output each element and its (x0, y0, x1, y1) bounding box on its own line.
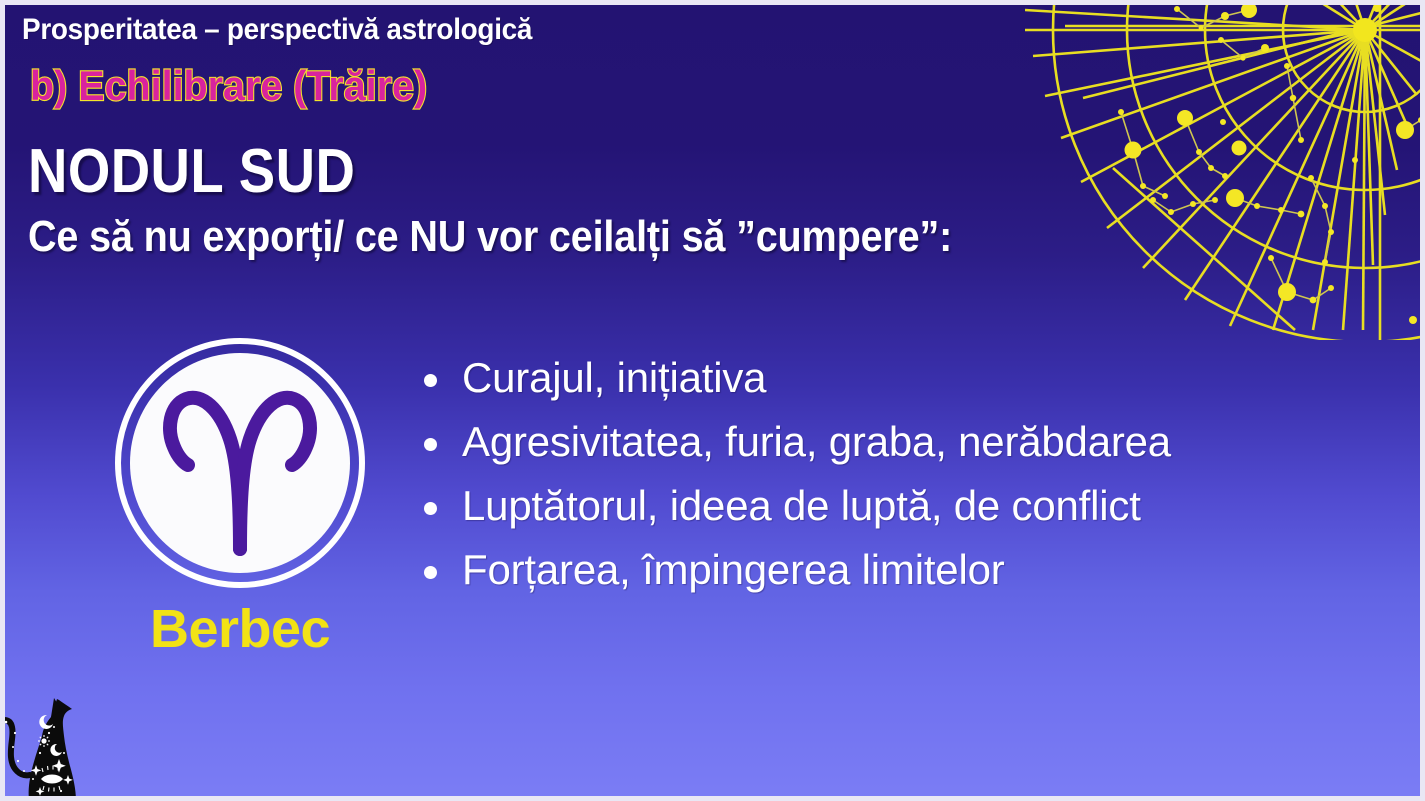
bullet-dot-icon (424, 438, 437, 451)
slide-subtitle: b) Echilibrare (Trăire) (30, 62, 427, 110)
aries-symbol-icon (130, 353, 350, 573)
frame-border-bottom (0, 796, 1425, 801)
slide-lead-text: Ce să nu exporți/ ce NU vor ceilalți să … (28, 212, 952, 262)
celestial-cat-silhouette-icon (2, 689, 110, 801)
bullet-dot-icon (424, 374, 437, 387)
list-item-label: Curajul, inițiativa (462, 354, 766, 401)
list-item-label: Luptătorul, ideea de luptă, de conflict (462, 482, 1141, 529)
star-chart-graphic (1025, 0, 1425, 340)
frame-border-top (0, 0, 1425, 5)
bullet-dot-icon (424, 566, 437, 579)
list-item: Agresivitatea, furia, graba, nerăbdarea (412, 412, 1392, 472)
list-item: Forțarea, împingerea limitelor (412, 540, 1392, 600)
bullet-dot-icon (424, 502, 437, 515)
list-item-label: Forțarea, împingerea limitelor (462, 546, 1005, 593)
slide-kicker: Prosperitatea – perspectivă astrologică (22, 13, 532, 47)
list-item: Luptătorul, ideea de luptă, de conflict (412, 476, 1392, 536)
frame-border-left (0, 0, 5, 801)
content-bullet-list: Curajul, inițiativa Agresivitatea, furia… (412, 348, 1392, 604)
zodiac-badge (115, 338, 365, 588)
list-item: Curajul, inițiativa (412, 348, 1392, 408)
list-item-label: Agresivitatea, furia, graba, nerăbdarea (462, 418, 1171, 465)
slide-canvas: Prosperitatea – perspectivă astrologică … (0, 0, 1425, 801)
zodiac-sign-label: Berbec (0, 598, 480, 660)
frame-border-right (1420, 0, 1425, 801)
page-title: NODUL SUD (28, 136, 355, 207)
